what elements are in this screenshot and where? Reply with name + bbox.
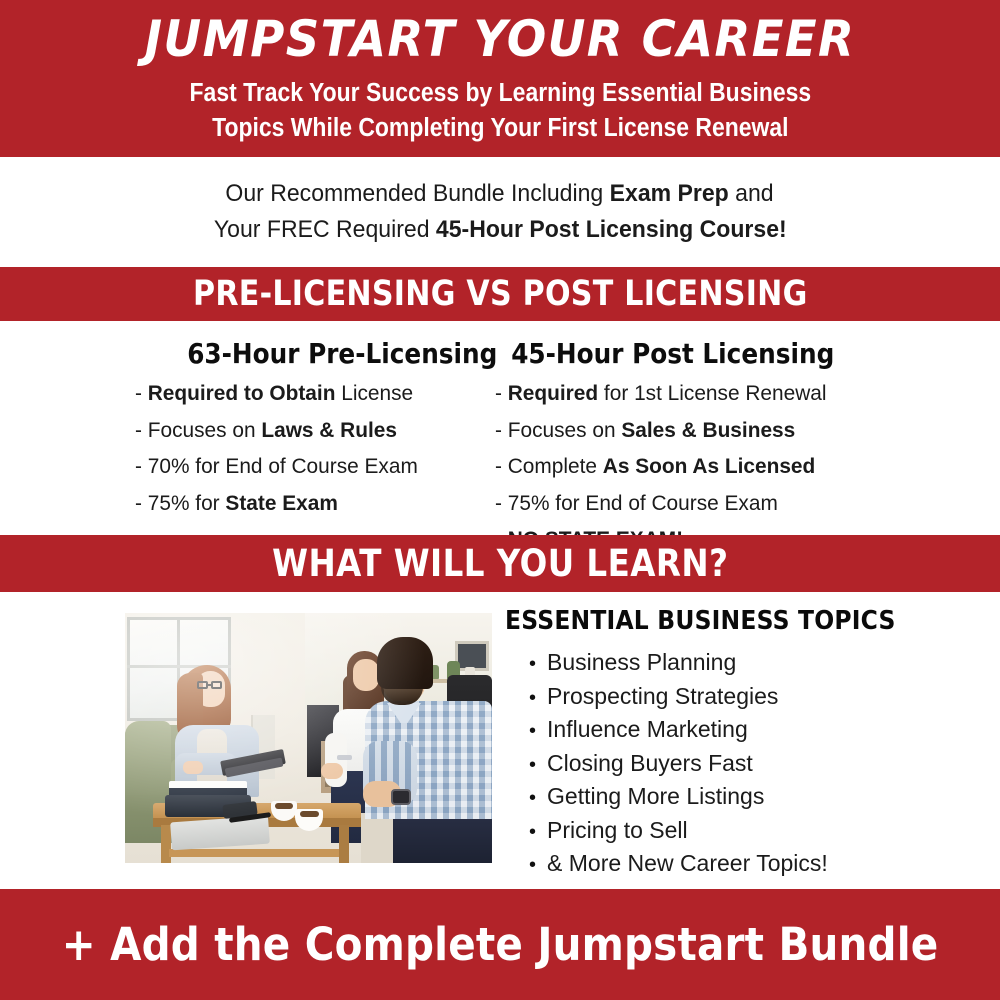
banner-add-bundle[interactable]: + Add the Complete Jumpstart Bundle [0, 889, 1000, 1000]
intro-line-2-bold: 45-Hour Post Licensing Course! [436, 216, 787, 243]
list-item: - Required for 1st License Renewal [495, 383, 893, 405]
list-item: - Complete As Soon As Licensed [495, 456, 893, 478]
hero-subtitle-line-2: Topics While Completing Your First Licen… [189, 111, 811, 146]
photo-table-lower-shelf [169, 849, 339, 857]
dash: - [495, 454, 508, 478]
column-pre-licensing-heading: 63-Hour Pre-Licensing [135, 338, 450, 370]
photo-agent-glasses-right [211, 681, 222, 689]
dash: - [135, 491, 148, 515]
item-bold: Sales & Business [621, 418, 795, 442]
list-item-label: Closing Buyers Fast [547, 752, 753, 775]
banner-what-will-you-learn: WHAT WILL YOU LEARN? [0, 535, 1000, 592]
photo-sofa-arm [125, 721, 171, 795]
meeting-photo [125, 613, 492, 863]
list-item-label: Business Planning [547, 651, 736, 674]
list-item: - Focuses on Laws & Rules [135, 420, 475, 442]
dash: - [135, 381, 148, 405]
list-item: - 75% for End of Course Exam [495, 493, 893, 515]
bullet-icon: • [529, 755, 536, 775]
hero-banner: JUMPSTART YOUR CAREER Fast Track Your Su… [0, 0, 1000, 157]
learn-section: ESSENTIAL BUSINESS TOPICS • Business Pla… [0, 592, 1000, 889]
list-item: • Prospecting Strategies [505, 685, 935, 708]
bullet-icon: • [529, 822, 536, 842]
item-plain: Focuses on [148, 418, 262, 442]
photo-agent-hand [183, 761, 203, 774]
dash: - [495, 418, 508, 442]
intro-line-1-c: and [729, 180, 774, 207]
photo-man-hair [377, 637, 433, 689]
photo-table-leg [161, 825, 171, 863]
hero-subtitle-line-1: Fast Track Your Success by Learning Esse… [189, 76, 811, 111]
item-plain: Complete [508, 454, 603, 478]
list-item: - 75% for State Exam [135, 493, 475, 515]
hero-subtitle: Fast Track Your Success by Learning Esse… [189, 76, 811, 145]
item-bold: Laws & Rules [261, 418, 397, 442]
column-pre-licensing: 63-Hour Pre-Licensing - Required to Obta… [95, 338, 485, 529]
list-item-label: Getting More Listings [547, 785, 764, 808]
page-title: JUMPSTART YOUR CAREER [145, 14, 855, 65]
item-bold: As Soon As Licensed [603, 454, 815, 478]
intro-line-2: Your FREC Required 45-Hour Post Licensin… [214, 212, 787, 248]
dash: - [495, 381, 508, 405]
list-item: • Pricing to Sell [505, 819, 935, 842]
bullet-icon: • [529, 721, 536, 741]
item-plain: 70% for End of Course Exam [148, 454, 418, 478]
list-item-label: Pricing to Sell [547, 819, 688, 842]
intro-line-1-bold: Exam Prep [610, 180, 729, 207]
intro-line-1: Our Recommended Bundle Including Exam Pr… [226, 176, 774, 212]
photo-agent-glasses-left [197, 681, 208, 689]
banner-pre-vs-post-label: PRE-LICENSING VS POST LICENSING [193, 274, 808, 314]
bullet-icon: • [529, 688, 536, 708]
list-item: • Getting More Listings [505, 785, 935, 808]
item-plain: 75% for End of Course Exam [508, 491, 778, 515]
photo-agent-glasses-bridge [208, 684, 211, 686]
intro-line-1-a: Our Recommended Bundle Including [226, 180, 610, 207]
photo-woman-face [353, 659, 379, 691]
item-plain: License [335, 381, 413, 405]
photo-cup-coffee [275, 803, 293, 809]
photo-table-leg [339, 825, 349, 863]
photo-woman-bracelet [337, 755, 352, 760]
dash: - [495, 491, 508, 515]
photo-cup-coffee [300, 811, 319, 817]
item-bold: Required [508, 381, 598, 405]
intro-line-2-a: Your FREC Required [214, 216, 436, 243]
item-plain: 75% for [148, 491, 226, 515]
item-plain: for 1st License Renewal [598, 381, 826, 405]
column-post-licensing-heading: 45-Hour Post Licensing [495, 338, 864, 370]
photo-woman-hand [321, 763, 343, 779]
list-item: - 70% for End of Course Exam [135, 456, 475, 478]
banner-pre-vs-post: PRE-LICENSING VS POST LICENSING [0, 267, 1000, 321]
intro-section: Our Recommended Bundle Including Exam Pr… [0, 157, 1000, 267]
topics-heading: ESSENTIAL BUSINESS TOPICS [505, 606, 901, 636]
list-item-label: Influence Marketing [547, 718, 748, 741]
list-item: • Business Planning [505, 651, 935, 674]
list-item: • & More New Career Topics! [505, 852, 935, 875]
banner-what-will-you-learn-label: WHAT WILL YOU LEARN? [272, 542, 728, 585]
list-item-label: & More New Career Topics! [547, 852, 828, 875]
list-item: - Required to Obtain License [135, 383, 475, 405]
banner-add-bundle-label: + Add the Complete Jumpstart Bundle [62, 918, 939, 971]
topics-list-container: ESSENTIAL BUSINESS TOPICS • Business Pla… [505, 606, 935, 886]
list-item: - Focuses on Sales & Business [495, 420, 893, 442]
dash: - [135, 418, 148, 442]
column-post-licensing: 45-Hour Post Licensing - Required for 1s… [485, 338, 905, 566]
bullet-icon: • [529, 855, 536, 875]
list-item: • Influence Marketing [505, 718, 935, 741]
item-plain: Focuses on [508, 418, 622, 442]
item-bold: State Exam [225, 491, 337, 515]
list-item: • Closing Buyers Fast [505, 752, 935, 775]
item-bold: Required to Obtain [148, 381, 336, 405]
bullet-icon: • [529, 654, 536, 674]
list-item-label: Prospecting Strategies [547, 685, 778, 708]
photo-man-watch [391, 789, 411, 805]
dash: - [135, 454, 148, 478]
comparison-section: 63-Hour Pre-Licensing - Required to Obta… [0, 321, 1000, 535]
promo-poster: JUMPSTART YOUR CAREER Fast Track Your Su… [0, 0, 1000, 1000]
bullet-icon: • [529, 788, 536, 808]
